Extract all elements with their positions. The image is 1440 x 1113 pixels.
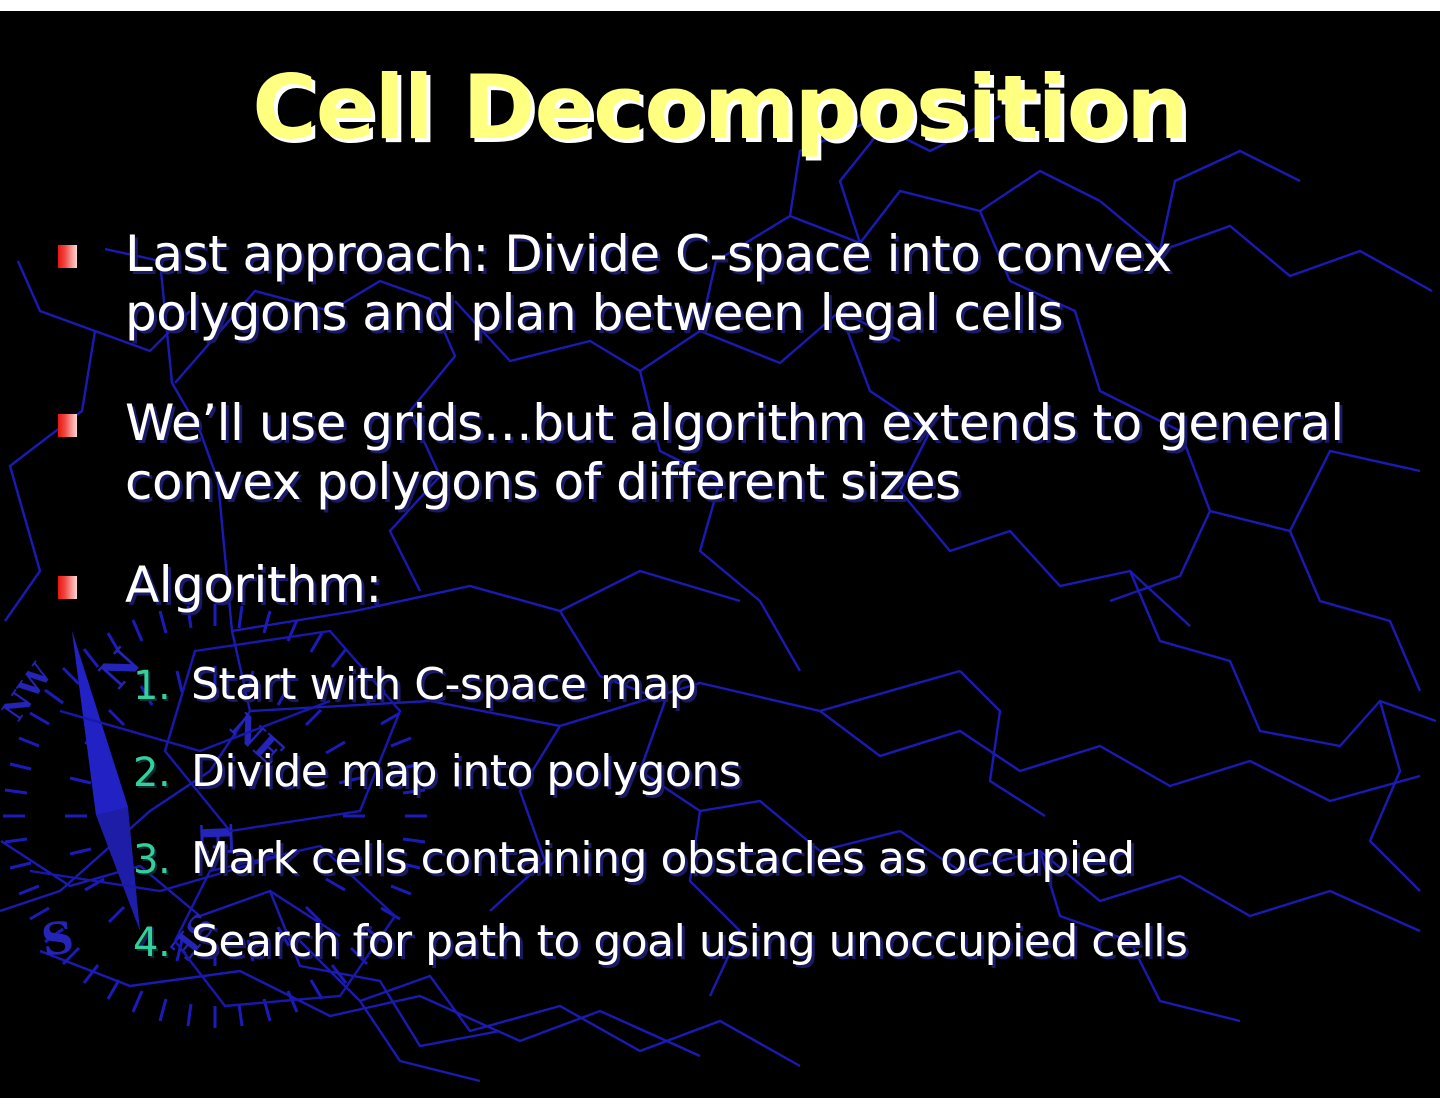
square-bullet-icon	[58, 414, 77, 437]
step-text-2: Divide map into polygons	[191, 748, 1433, 796]
slide-content: Cell Decomposition Last approach: Divide…	[0, 11, 1440, 1098]
bullet-item-1: Last approach: Divide C-space into conve…	[58, 225, 1398, 342]
algorithm-step-1: 1. Start with C-space map	[133, 661, 1433, 709]
step-number-1: 1.	[133, 663, 191, 709]
algorithm-step-3: 3. Mark cells containing obstacles as oc…	[133, 835, 1433, 883]
bullet-text-3: Algorithm:	[125, 556, 1398, 615]
bullet-text-2: We’ll use grids…but algorithm extends to…	[125, 394, 1398, 511]
square-bullet-icon	[58, 576, 77, 599]
page-title: Cell Decomposition	[0, 64, 1440, 152]
algorithm-step-2: 2. Divide map into polygons	[133, 748, 1433, 796]
square-bullet-icon	[58, 245, 77, 268]
presentation-slide: N NW NE E SE S Cell Decomposition Last a…	[0, 11, 1440, 1098]
step-number-3: 3.	[133, 837, 191, 883]
bullet-text-1: Last approach: Divide C-space into conve…	[125, 225, 1398, 342]
bullet-item-3: Algorithm:	[58, 556, 1398, 615]
step-text-3: Mark cells containing obstacles as occup…	[191, 835, 1433, 883]
step-number-2: 2.	[133, 750, 191, 796]
bullet-item-2: We’ll use grids…but algorithm extends to…	[58, 394, 1398, 511]
algorithm-step-4: 4. Search for path to goal using unoccup…	[133, 918, 1433, 966]
step-number-4: 4.	[133, 920, 191, 966]
step-text-4: Search for path to goal using unoccupied…	[191, 918, 1433, 966]
step-text-1: Start with C-space map	[191, 661, 1433, 709]
